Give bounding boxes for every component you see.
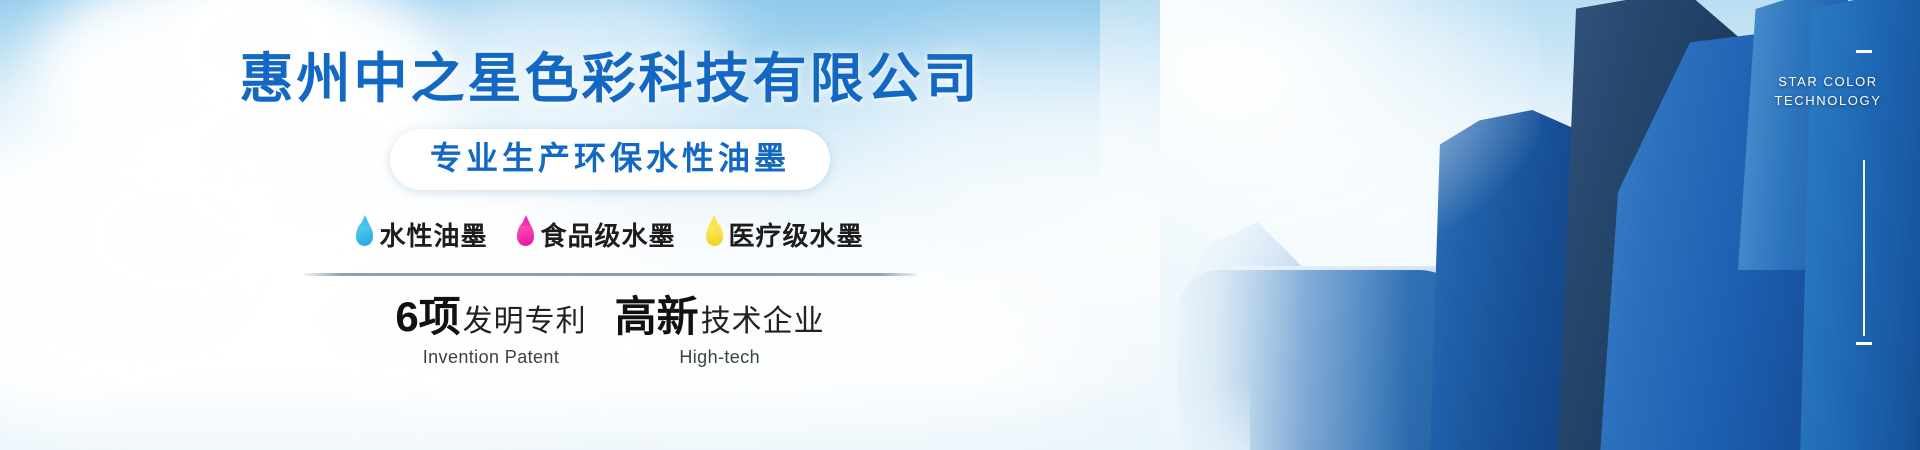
accent-tick-bottom: [1856, 342, 1872, 345]
credential-badge-en: Invention Patent: [423, 347, 560, 368]
section-divider: [304, 273, 916, 276]
ink-type-item: 医疗级水墨: [706, 216, 864, 253]
credential-badge-cn: 6项 发明专利: [395, 296, 586, 338]
ink-type-label: 食品级水墨: [540, 216, 675, 253]
credential-badge-en: High-tech: [679, 347, 760, 368]
building-right-tower: [1800, 0, 1920, 450]
credential-badge-rest: 技术企业: [701, 307, 825, 337]
credential-badge-lead: 6项: [395, 296, 460, 338]
building-brand-line2: TECHNOLOGY: [1762, 91, 1894, 110]
ink-type-list: 水性油墨 食品级水墨 医疗级水墨: [356, 216, 863, 253]
hero-banner: Star Color STAR COLOR TECHNOLOGY 惠州中之星色彩…: [0, 0, 1920, 450]
ink-type-label: 水性油墨: [379, 216, 487, 253]
cityscape-photo: STAR COLOR TECHNOLOGY: [1160, 0, 1920, 450]
accent-vertical-rule: [1863, 160, 1865, 336]
accent-tick-top: [1856, 50, 1872, 53]
subtitle-text: 专业生产环保水性油墨: [430, 140, 790, 177]
yellow-droplet-icon: [706, 222, 723, 246]
cyan-droplet-icon: [356, 222, 373, 246]
credential-badge-lead: 高新: [615, 296, 699, 338]
ink-type-item: 食品级水墨: [517, 216, 675, 253]
credential-badge: 6项 发明专利 Invention Patent: [395, 296, 586, 368]
building-brand-line1: STAR COLOR: [1762, 72, 1894, 91]
credential-badge: 高新 技术企业 High-tech: [615, 296, 825, 368]
ink-type-label: 医疗级水墨: [729, 216, 864, 253]
building-brand-label: STAR COLOR TECHNOLOGY: [1762, 72, 1894, 110]
subtitle-pill: 专业生产环保水性油墨: [390, 129, 830, 190]
credential-badge-cn: 高新 技术企业: [615, 296, 825, 338]
magenta-droplet-icon: [517, 222, 534, 246]
credential-badge-list: 6项 发明专利 Invention Patent 高新 技术企业 High-te…: [395, 296, 824, 368]
credential-badge-rest: 发明专利: [463, 307, 587, 337]
ink-type-item: 水性油墨: [356, 216, 487, 253]
company-name-heading: 惠州中之星色彩科技有限公司: [240, 52, 981, 106]
banner-content: 惠州中之星色彩科技有限公司 专业生产环保水性油墨 水性油墨 食品级水墨 医疗级水…: [0, 0, 1220, 450]
